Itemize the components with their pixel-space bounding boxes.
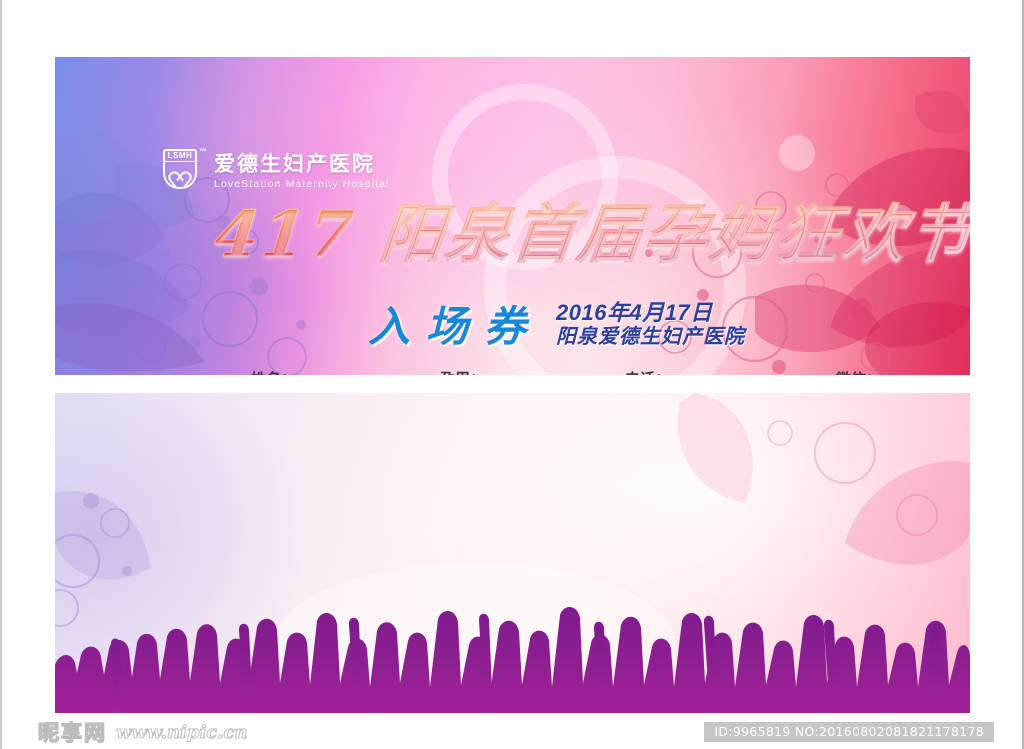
event-venue: 阳泉爱德生妇产医院 [556,325,745,349]
crowd-silhouette-graphic [55,603,970,713]
form-field-label: 姓名： [251,368,296,375]
form-field-input[interactable] [299,370,394,375]
form-field-label: 孕周： [440,368,485,375]
event-date: 2016年4月17日 [556,300,745,325]
poster-page: LSMH ™ 爱德生妇产医院 LoveStation Maternity Hos… [0,0,1024,749]
attendee-form-row: 姓名：孕周：电话：微信： [251,368,951,375]
form-field: 姓名： [251,368,394,375]
form-field: 微信： [836,368,970,375]
watermark-url-text: www.nipic.cn [116,722,248,743]
hospital-name-cn: 爱德生妇产医院 [214,153,389,176]
site-watermark: 昵享网 www.nipic.cn [38,717,248,747]
image-id-badge: ID:9965819 NO:20160802081821178178 [704,722,994,742]
page-left-border [0,0,2,749]
hospital-logo: LSMH ™ 爱德生妇产医院 LoveStation Maternity Hos… [163,149,389,191]
form-field-label: 电话： [625,368,670,375]
heart-icon [172,166,188,181]
form-field-input[interactable] [884,370,970,375]
form-field: 孕周： [440,368,583,375]
ticket-back-side: ◆淘宝街1楼◆扫码晒靓照1楼◆沙画表演4楼◆孕妇瑜伽4楼◆肚皮彩绘4楼◆分娩体验… [55,393,970,713]
hospital-name-en: LoveStation Maternity Hospital [214,177,389,191]
form-field: 电话： [625,368,798,375]
form-field-input[interactable] [488,370,583,375]
event-headline: 417 阳泉首届孕妈狂欢节 [211,198,949,272]
ticket-type-label: 入场券 [368,293,542,354]
ticket-subtitle-side: 2016年4月17日 阳泉爱德生妇产医院 [556,300,745,349]
logo-badge-text: LSMH [165,151,195,162]
shield-badge-icon: LSMH [163,149,197,189]
form-field-input[interactable] [673,370,798,375]
form-field-label: 微信： [836,368,881,375]
watermark-logo-text: 昵享网 [38,717,107,747]
logo-text-block: 爱德生妇产医院 LoveStation Maternity Hospital [214,153,389,191]
ticket-front-side: LSMH ™ 爱德生妇产医院 LoveStation Maternity Hos… [55,57,970,375]
trademark-symbol: ™ [199,147,207,156]
ticket-subtitle-row: 入场券 2016年4月17日 阳泉爱德生妇产医院 [368,293,745,354]
